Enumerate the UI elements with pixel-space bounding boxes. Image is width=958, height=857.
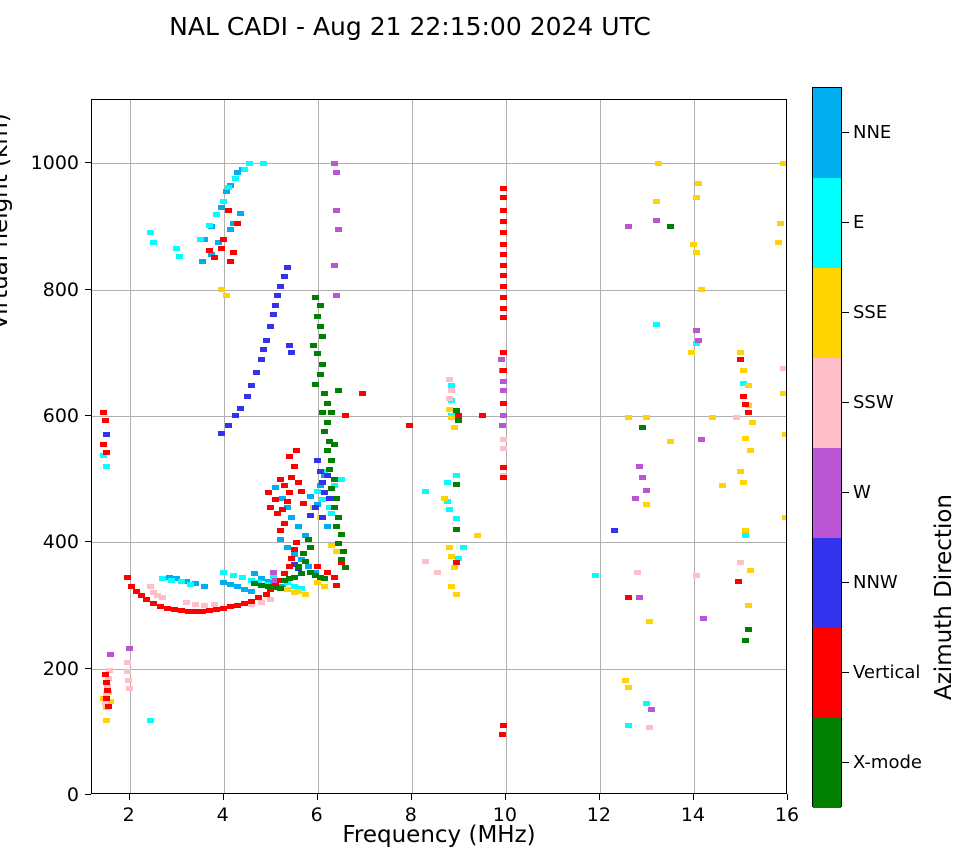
data-point-w: [653, 218, 660, 223]
data-point-vertical: [103, 680, 110, 685]
data-point-vertical: [277, 528, 284, 533]
data-point-vertical: [500, 465, 507, 470]
data-point-x-mode: [335, 541, 342, 546]
data-point-w: [648, 707, 655, 712]
data-point-x-mode: [312, 382, 319, 387]
data-point-e: [260, 161, 267, 166]
data-point-sse: [749, 420, 756, 425]
data-point-sse: [737, 469, 744, 474]
data-point-ssw: [634, 570, 641, 575]
x-tick-mark: [505, 794, 506, 800]
scatter-points-layer: [92, 100, 786, 793]
colorbar-tick-mark: [842, 672, 849, 673]
data-point-ssw: [434, 570, 441, 575]
data-point-e: [173, 246, 180, 251]
data-point-vertical: [742, 402, 749, 407]
data-point-w: [643, 488, 650, 493]
data-point-w: [500, 388, 507, 393]
data-point-e: [232, 176, 239, 181]
data-point-sse: [284, 587, 291, 592]
data-point-vertical: [220, 606, 227, 611]
data-point-ssw: [124, 660, 131, 665]
data-point-e: [150, 240, 157, 245]
colorbar-segment-nne[interactable]: [813, 88, 841, 178]
colorbar-tick-mark: [842, 762, 849, 763]
data-point-vertical: [333, 583, 340, 588]
data-point-nnw: [314, 458, 321, 463]
data-point-nnw: [218, 431, 225, 436]
data-point-w: [499, 423, 506, 428]
data-point-sse: [780, 391, 786, 396]
data-point-vertical: [500, 186, 507, 191]
colorbar-segment-sse[interactable]: [813, 268, 841, 358]
data-point-e: [453, 516, 460, 521]
x-tick-mark: [129, 794, 130, 800]
data-point-w: [695, 338, 702, 343]
data-point-nne: [295, 524, 302, 529]
data-point-sse: [742, 528, 749, 533]
colorbar-tick-mark: [842, 492, 849, 493]
colorbar-label-nnw: NNW: [853, 572, 898, 593]
data-point-vertical: [293, 540, 300, 545]
data-point-x-mode: [258, 583, 265, 588]
colorbar-tick-mark: [842, 132, 849, 133]
data-point-x-mode: [295, 564, 302, 569]
data-point-e: [446, 507, 453, 512]
data-point-nnw: [270, 312, 277, 317]
data-point-nnw: [244, 394, 251, 399]
colorbar-label-e: E: [853, 212, 864, 233]
data-point-nne: [288, 515, 295, 520]
data-point-sse: [441, 496, 448, 501]
data-point-ssw: [448, 388, 455, 393]
data-point-x-mode: [307, 545, 314, 550]
data-point-vertical: [281, 521, 288, 526]
data-point-vertical: [286, 564, 293, 569]
data-point-sse: [451, 425, 458, 430]
data-point-x-mode: [328, 410, 335, 415]
data-point-vertical: [314, 564, 321, 569]
data-point-nnw: [326, 496, 333, 501]
data-point-nnw: [248, 383, 255, 388]
data-point-vertical: [100, 442, 107, 447]
data-point-vertical: [227, 604, 234, 609]
data-point-x-mode: [331, 505, 338, 510]
data-point-e: [103, 464, 110, 469]
data-point-vertical: [324, 570, 331, 575]
data-point-ssw: [780, 366, 786, 371]
data-point-w: [335, 227, 342, 232]
data-point-e: [147, 718, 154, 723]
data-point-sse: [667, 439, 674, 444]
data-point-vertical: [272, 497, 279, 502]
data-point-sse: [747, 568, 754, 573]
data-point-vertical: [150, 601, 157, 606]
data-point-vertical: [234, 603, 241, 608]
data-point-vertical: [104, 688, 111, 693]
data-point-w: [331, 161, 338, 166]
data-point-ssw: [500, 446, 507, 451]
data-point-vertical: [291, 547, 298, 552]
data-point-sse: [333, 549, 340, 554]
x-tick-mark: [317, 794, 318, 800]
data-point-vertical: [100, 410, 107, 415]
data-point-x-mode: [277, 586, 284, 591]
data-point-x-mode: [317, 372, 324, 377]
data-point-nnw: [260, 347, 267, 352]
data-point-nne: [272, 485, 279, 490]
data-point-w: [126, 646, 133, 651]
data-point-vertical: [274, 511, 281, 516]
colorbar[interactable]: [812, 87, 842, 807]
data-point-nnw: [307, 513, 314, 518]
data-point-ssw: [500, 437, 507, 442]
data-point-vertical: [500, 219, 507, 224]
data-point-nne: [305, 564, 312, 569]
data-point-nne: [227, 582, 234, 587]
data-point-e: [742, 533, 749, 538]
data-point-vertical: [277, 477, 284, 482]
data-point-sse: [448, 415, 455, 420]
data-point-vertical: [279, 507, 286, 512]
data-point-w: [270, 570, 277, 575]
data-point-x-mode: [324, 401, 331, 406]
data-point-ssw: [737, 560, 744, 565]
data-point-sse: [643, 502, 650, 507]
colorbar-segment-w[interactable]: [813, 448, 841, 538]
data-point-nnw: [277, 284, 284, 289]
data-point-vertical: [178, 608, 185, 613]
data-point-sse: [782, 432, 786, 437]
data-point-ssw: [422, 559, 429, 564]
data-point-nnw: [267, 324, 274, 329]
data-point-sse: [474, 533, 481, 538]
colorbar-segment-ssw[interactable]: [813, 358, 841, 448]
chart-title: NAL CADI - Aug 21 22:15:00 2024 UTC: [0, 12, 820, 41]
data-point-x-mode: [312, 295, 319, 300]
data-point-w: [107, 652, 114, 657]
data-point-vertical: [500, 723, 507, 728]
data-point-nnw: [281, 274, 288, 279]
data-point-vertical: [479, 413, 486, 418]
data-point-nnw: [611, 528, 618, 533]
data-point-vertical: [105, 704, 112, 709]
colorbar-label-vertical: Vertical: [853, 662, 920, 683]
data-point-x-mode: [317, 303, 324, 308]
data-point-w: [636, 595, 643, 600]
data-point-sse: [451, 565, 458, 570]
data-point-vertical: [206, 248, 213, 253]
data-point-sse: [453, 592, 460, 597]
data-point-sse: [737, 350, 744, 355]
data-point-e: [168, 578, 175, 583]
data-point-vertical: [359, 391, 366, 396]
data-point-vertical: [230, 250, 237, 255]
data-point-ssw: [258, 600, 265, 605]
data-point-vertical: [406, 423, 413, 428]
data-point-ssw: [159, 595, 166, 600]
data-point-sse: [777, 221, 784, 226]
y-tick-label: 1000: [21, 152, 79, 174]
data-point-sse: [446, 545, 453, 550]
data-point-w: [498, 357, 505, 362]
data-point-x-mode: [453, 527, 460, 532]
data-point-sse: [646, 619, 653, 624]
data-point-ssw: [125, 678, 132, 683]
y-tick-label: 600: [21, 405, 79, 427]
data-point-x-mode: [338, 557, 345, 562]
data-point-sse: [103, 718, 110, 723]
data-point-sse: [698, 287, 705, 292]
data-point-e: [328, 511, 335, 516]
data-point-vertical: [625, 595, 632, 600]
data-point-vertical: [286, 490, 293, 495]
data-point-x-mode: [317, 324, 324, 329]
data-point-x-mode: [328, 486, 335, 491]
data-point-vertical: [171, 607, 178, 612]
data-point-sse: [775, 240, 782, 245]
data-point-sse: [742, 436, 749, 441]
data-point-e: [213, 212, 220, 217]
colorbar-tick-mark: [842, 312, 849, 313]
colorbar-label-x-mode: X-mode: [853, 752, 922, 773]
data-point-x-mode: [639, 425, 646, 430]
data-point-vertical: [293, 448, 300, 453]
data-point-sse: [622, 678, 629, 683]
data-point-nnw: [324, 473, 331, 478]
data-point-vertical: [300, 501, 307, 506]
data-point-e: [653, 322, 660, 327]
data-point-e: [643, 701, 650, 706]
data-point-sse: [745, 603, 752, 608]
data-point-ssw: [267, 597, 274, 602]
y-tick-mark: [85, 668, 91, 669]
data-point-vertical: [745, 410, 752, 415]
data-point-ssw: [446, 377, 453, 382]
data-point-sse: [653, 199, 660, 204]
data-point-ssw: [211, 602, 218, 607]
data-point-vertical: [500, 252, 507, 257]
data-point-sse: [719, 483, 726, 488]
data-point-nnw: [286, 343, 293, 348]
data-point-nne: [218, 205, 225, 210]
data-point-e: [239, 575, 246, 580]
data-point-vertical: [500, 306, 507, 311]
data-point-x-mode: [314, 314, 321, 319]
data-point-vertical: [124, 575, 131, 580]
data-point-vertical: [234, 221, 241, 226]
data-point-ssw: [733, 415, 740, 420]
data-point-nnw: [317, 469, 324, 474]
data-point-vertical: [288, 556, 295, 561]
y-tick-mark: [85, 289, 91, 290]
data-point-w: [500, 379, 507, 384]
data-point-vertical: [206, 608, 213, 613]
data-point-sse: [709, 415, 716, 420]
data-point-vertical: [500, 273, 507, 278]
data-point-vertical: [241, 601, 248, 606]
data-point-vertical: [157, 604, 164, 609]
data-point-vertical: [199, 609, 206, 614]
data-point-vertical: [737, 357, 744, 362]
data-point-x-mode: [742, 638, 749, 643]
data-point-nnw: [263, 338, 270, 343]
data-point-nne: [251, 571, 258, 576]
data-point-x-mode: [331, 442, 338, 447]
y-tick-label: 200: [21, 658, 79, 680]
data-point-x-mode: [328, 458, 335, 463]
data-point-x-mode: [342, 565, 349, 570]
colorbar-segment-vertical[interactable]: [813, 628, 841, 718]
data-point-nnw: [274, 293, 281, 298]
data-point-e: [453, 473, 460, 478]
data-point-x-mode: [300, 551, 307, 556]
y-tick-mark: [85, 794, 91, 795]
data-point-vertical: [499, 732, 506, 737]
data-point-nnw: [103, 432, 110, 437]
data-point-sse: [643, 415, 650, 420]
data-point-vertical: [211, 255, 218, 260]
data-point-ssw: [192, 602, 199, 607]
data-point-e: [159, 576, 166, 581]
data-point-e: [197, 237, 204, 242]
colorbar-label-nne: NNE: [853, 122, 891, 143]
data-point-sse: [695, 181, 702, 186]
data-point-sse: [314, 580, 321, 585]
data-point-ssw: [124, 669, 131, 674]
data-point-e: [147, 230, 154, 235]
data-point-nne: [277, 537, 284, 542]
data-point-vertical: [500, 230, 507, 235]
data-point-w: [698, 437, 705, 442]
data-point-vertical: [500, 315, 507, 320]
data-point-nne: [223, 189, 230, 194]
data-point-vertical: [192, 609, 199, 614]
data-point-x-mode: [251, 581, 258, 586]
data-point-sse: [747, 448, 754, 453]
y-tick-mark: [85, 415, 91, 416]
data-point-x-mode: [338, 532, 345, 537]
data-point-nne: [220, 580, 227, 585]
data-point-nnw: [319, 480, 326, 485]
y-tick-mark: [85, 162, 91, 163]
data-point-ssw: [693, 573, 700, 578]
data-point-e: [319, 497, 326, 502]
data-point-vertical: [740, 394, 747, 399]
data-point-sse: [690, 242, 697, 247]
data-point-sse: [693, 250, 700, 255]
data-point-vertical: [295, 480, 302, 485]
data-point-sse: [625, 415, 632, 420]
data-point-x-mode: [302, 559, 309, 564]
data-point-vertical: [213, 607, 220, 612]
data-point-x-mode: [335, 515, 342, 520]
y-tick-label: 400: [21, 531, 79, 553]
data-point-nnw: [237, 406, 244, 411]
colorbar-segment-nnw[interactable]: [813, 538, 841, 628]
x-tick-mark: [693, 794, 694, 800]
data-point-vertical: [298, 489, 305, 494]
data-point-e: [230, 573, 237, 578]
data-point-vertical: [500, 475, 507, 480]
data-point-e: [338, 477, 345, 482]
data-point-sse: [291, 590, 298, 595]
data-point-nnw: [232, 413, 239, 418]
data-point-sse: [328, 543, 335, 548]
x-tick-mark: [599, 794, 600, 800]
data-point-vertical: [220, 237, 227, 242]
data-point-vertical: [500, 242, 507, 247]
data-point-x-mode: [340, 549, 347, 554]
data-point-x-mode: [321, 429, 328, 434]
data-point-nnw: [288, 350, 295, 355]
data-point-nne: [201, 584, 208, 589]
data-point-vertical: [291, 464, 298, 469]
data-point-vertical: [500, 401, 507, 406]
data-point-w: [333, 170, 340, 175]
data-point-nnw: [272, 303, 279, 308]
data-point-e: [176, 254, 183, 259]
plot-area: [91, 99, 787, 794]
data-point-ssw: [126, 686, 133, 691]
data-point-w: [500, 413, 507, 418]
data-point-vertical: [263, 592, 270, 597]
data-point-vertical: [103, 450, 110, 455]
data-point-vertical: [102, 672, 109, 677]
x-tick-mark: [787, 794, 788, 800]
data-point-vertical: [342, 413, 349, 418]
data-point-w: [625, 224, 632, 229]
data-point-x-mode: [319, 410, 326, 415]
data-point-x-mode: [314, 351, 321, 356]
data-point-nnw: [258, 357, 265, 362]
data-point-sse: [782, 515, 786, 520]
x-axis-label: Frequency (MHz): [91, 822, 787, 848]
data-point-sse: [223, 293, 230, 298]
x-tick-mark: [223, 794, 224, 800]
data-point-vertical: [500, 263, 507, 268]
y-tick-label: 0: [21, 784, 79, 806]
data-point-w: [331, 263, 338, 268]
data-point-sse: [446, 407, 453, 412]
data-point-x-mode: [310, 343, 317, 348]
data-point-x-mode: [453, 482, 460, 487]
data-point-w: [333, 208, 340, 213]
data-point-e: [314, 489, 321, 494]
data-point-e: [220, 199, 227, 204]
data-point-e: [444, 480, 451, 485]
data-point-vertical: [453, 560, 460, 565]
colorbar-segment-x-mode[interactable]: [813, 718, 841, 808]
data-point-x-mode: [324, 420, 331, 425]
data-point-vertical: [225, 208, 232, 213]
data-point-nnw: [225, 423, 232, 428]
data-point-ssw: [446, 396, 453, 401]
data-point-x-mode: [265, 584, 272, 589]
data-point-vertical: [143, 597, 150, 602]
data-point-e: [241, 167, 248, 172]
data-point-sse: [740, 368, 747, 373]
colorbar-segment-e[interactable]: [813, 178, 841, 268]
data-point-ssw: [646, 725, 653, 730]
data-point-vertical: [185, 609, 192, 614]
data-point-nne: [248, 589, 255, 594]
data-point-sse: [625, 685, 632, 690]
data-point-e: [592, 573, 599, 578]
data-point-vertical: [500, 368, 507, 373]
data-point-x-mode: [333, 496, 340, 501]
data-point-sse: [218, 287, 225, 292]
